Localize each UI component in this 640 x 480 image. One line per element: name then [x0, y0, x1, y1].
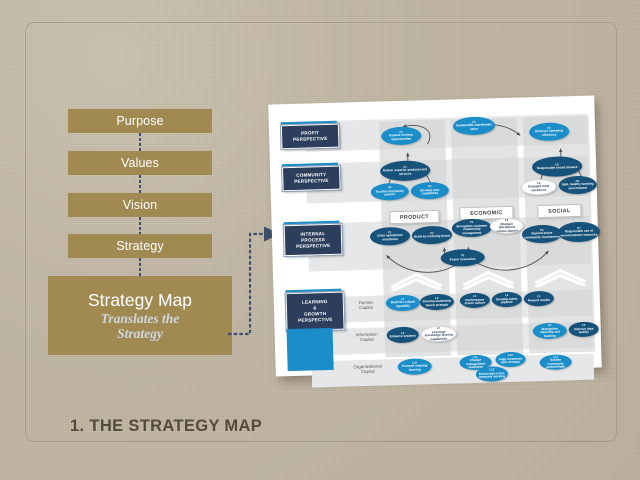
objective-number: F1	[383, 130, 419, 135]
objective-text: Strengthen customer relationship managem…	[456, 223, 487, 235]
strategy-map-callout-title: Strategy Map	[88, 290, 192, 310]
flow-connector-1	[139, 133, 141, 151]
objective-number: L8	[535, 323, 565, 327]
objective-number: L9	[571, 324, 597, 328]
flow-step-label: Strategy	[116, 239, 163, 253]
objective-number: L12	[497, 354, 523, 358]
objective-number: L3	[462, 295, 488, 299]
objective-number: P6	[524, 228, 560, 233]
pillar-header-social[interactable]: SOCIAL	[537, 204, 581, 218]
flow-connector-3	[139, 217, 141, 234]
flow-step-label: Purpose	[116, 114, 163, 128]
objective-number: L14	[541, 355, 569, 359]
chevron-up-icon-product	[387, 270, 446, 292]
flow-step-label: Values	[121, 156, 159, 170]
flow-step-label: Vision	[123, 198, 157, 212]
objective-text: Strengthen reporting and tracking	[540, 326, 560, 337]
strategy-map-callout[interactable]: Strategy Map Translates the Strategy	[48, 276, 232, 355]
objective-number: L7	[424, 327, 454, 331]
flow-connector-4	[139, 258, 141, 277]
subtitle-line-2: Strategy	[101, 326, 180, 341]
pillar-header-product[interactable]: PRODUCT	[389, 210, 439, 224]
pillar-label: ECONOMIC	[470, 210, 503, 217]
objective-number: C2	[413, 185, 447, 189]
pillar-label: PRODUCT	[400, 214, 429, 221]
chevron-up-icon-economic	[459, 268, 518, 290]
flow-step-vision[interactable]: Vision	[68, 193, 212, 217]
flow-connector-2	[139, 175, 141, 193]
objective-number: L4	[494, 294, 520, 298]
subtitle-line-1: Translates the	[101, 311, 180, 326]
objective-text: Leverage knowledge sharing capabilities	[425, 329, 453, 340]
strategy-map-card[interactable]: PROFIT PERSPECTIVE COMMUNITY PERSPECTIVE…	[268, 96, 601, 377]
pillar-label: SOCIAL	[548, 208, 571, 215]
objective-number: L11	[461, 355, 489, 359]
objective-text: Sustain community partnerships	[546, 358, 565, 369]
objective-number: L5	[528, 295, 550, 299]
objective-number: L6	[390, 331, 416, 335]
strategy-map-canvas: PROFIT PERSPECTIVE COMMUNITY PERSPECTIVE…	[276, 104, 595, 367]
objective-text: Maintain disciplined business planning	[493, 221, 520, 233]
flow-step-strategy[interactable]: Strategy	[68, 234, 212, 258]
page-title: 1. THE STRATEGY MAP	[70, 417, 262, 436]
flow-step-purpose[interactable]: Purpose	[68, 109, 212, 133]
chevron-up-icon-social	[531, 266, 590, 288]
strategy-map-callout-subtitle: Translates the Strategy	[101, 311, 180, 341]
objective-number: P5	[450, 254, 476, 258]
flow-step-values[interactable]: Values	[68, 151, 212, 175]
objective-number: P4	[493, 219, 521, 223]
